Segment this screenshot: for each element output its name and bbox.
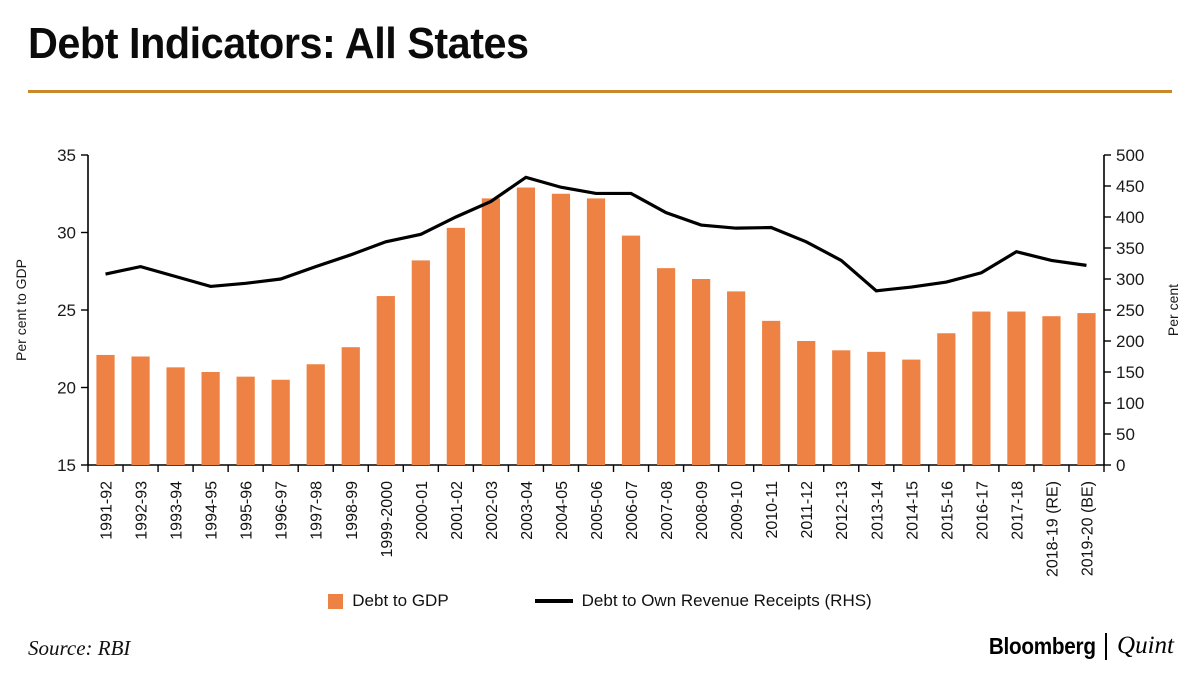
y-axis-right-tick-label: 0 bbox=[1116, 456, 1125, 475]
x-axis-label-2005-06: 2005-06 bbox=[589, 481, 606, 540]
debt-indicators-chart: 1520253035Per cent to GDP050100150200250… bbox=[0, 110, 1200, 610]
bar-1991-92[interactable] bbox=[96, 355, 114, 465]
source-note: Source: RBI bbox=[28, 636, 130, 661]
bar-1992-93[interactable] bbox=[131, 357, 149, 466]
bar-2000-01[interactable] bbox=[412, 260, 430, 465]
bar-2005-06[interactable] bbox=[587, 198, 605, 465]
x-axis-label-1996-97: 1996-97 bbox=[274, 481, 291, 540]
x-axis-label-2016-17: 2016-17 bbox=[974, 481, 991, 540]
brand-divider-icon bbox=[1105, 633, 1107, 660]
bar-1998-99[interactable] bbox=[342, 347, 360, 465]
bar-series-debt-to-gdp bbox=[96, 188, 1095, 465]
x-axis-label-1994-95: 1994-95 bbox=[204, 481, 221, 540]
bar-2013-14[interactable] bbox=[867, 352, 885, 465]
bar-1999-2000[interactable] bbox=[377, 296, 395, 465]
y-axis-left-tick-label: 35 bbox=[57, 146, 76, 165]
x-axis-label-2014-15: 2014-15 bbox=[904, 481, 921, 540]
bar-2001-02[interactable] bbox=[447, 228, 465, 465]
bar-2002-03[interactable] bbox=[482, 198, 500, 465]
brand-bloomberg-text: Bloomberg bbox=[989, 633, 1096, 660]
y-axis-right-tick-label: 150 bbox=[1116, 363, 1144, 382]
x-axis-label-1999-2000: 1999-2000 bbox=[379, 481, 396, 558]
legend-item-debt-to-own-revenue-receipts[interactable]: Debt to Own Revenue Receipts (RHS) bbox=[535, 591, 872, 611]
x-axis-label-2007-08: 2007-08 bbox=[659, 481, 676, 540]
footer: Source: RBI Bloomberg Quint bbox=[0, 628, 1200, 673]
bar-2011-12[interactable] bbox=[797, 341, 815, 465]
x-axis-label-2009-10: 2009-10 bbox=[729, 481, 746, 540]
bar-2009-10[interactable] bbox=[727, 291, 745, 465]
y-axis-right-tick-label: 250 bbox=[1116, 301, 1144, 320]
bar-2003-04[interactable] bbox=[517, 188, 535, 465]
x-axis-label-2018-19-re-: 2018-19 (RE) bbox=[1044, 481, 1061, 577]
x-axis-label-2010-11: 2010-11 bbox=[764, 481, 781, 539]
bar-1994-95[interactable] bbox=[202, 372, 220, 465]
title-divider bbox=[28, 90, 1172, 93]
bar-1995-96[interactable] bbox=[237, 377, 255, 465]
bar-2006-07[interactable] bbox=[622, 236, 640, 465]
bar-2015-16[interactable] bbox=[937, 333, 955, 465]
x-axis-label-2008-09: 2008-09 bbox=[694, 481, 711, 540]
y-axis-right-tick-label: 300 bbox=[1116, 270, 1144, 289]
x-axis-label-1992-93: 1992-93 bbox=[134, 481, 151, 540]
y-axis-left-tick-label: 25 bbox=[57, 301, 76, 320]
legend-swatch-line-icon bbox=[535, 599, 573, 603]
x-axis-label-2015-16: 2015-16 bbox=[939, 481, 956, 540]
chart-container: 1520253035Per cent to GDP050100150200250… bbox=[0, 110, 1200, 610]
x-axis-label-2002-03: 2002-03 bbox=[484, 481, 501, 540]
bar-2012-13[interactable] bbox=[832, 350, 850, 465]
x-axis-label-2017-18: 2017-18 bbox=[1009, 481, 1026, 540]
x-axis-label-2004-05: 2004-05 bbox=[554, 481, 571, 540]
x-axis-label-1998-99: 1998-99 bbox=[344, 481, 361, 540]
x-axis-label-2006-07: 2006-07 bbox=[624, 481, 641, 540]
x-axis-label-1997-98: 1997-98 bbox=[309, 481, 326, 540]
bar-2014-15[interactable] bbox=[902, 360, 920, 465]
bar-1993-94[interactable] bbox=[166, 367, 184, 465]
x-axis-label-2013-14: 2013-14 bbox=[869, 481, 886, 540]
y-axis-left-title: Per cent to GDP bbox=[13, 259, 29, 361]
y-axis-right-tick-label: 500 bbox=[1116, 146, 1144, 165]
x-axis-label-2019-20-be-: 2019-20 (BE) bbox=[1079, 481, 1096, 576]
bar-2019-20-be-[interactable] bbox=[1077, 313, 1095, 465]
legend-item-debt-to-gdp[interactable]: Debt to GDP bbox=[328, 591, 448, 611]
x-axis-label-2003-04: 2003-04 bbox=[519, 481, 536, 540]
bar-2010-11[interactable] bbox=[762, 321, 780, 465]
y-axis-right-tick-label: 50 bbox=[1116, 425, 1135, 444]
legend-label-debt-to-own-revenue-receipts: Debt to Own Revenue Receipts (RHS) bbox=[582, 591, 872, 611]
x-axis-label-2011-12: 2011-12 bbox=[799, 481, 816, 539]
legend-swatch-bar-icon bbox=[328, 594, 343, 609]
y-axis-right-title: Per cent bbox=[1165, 284, 1181, 336]
brand-logo: Bloomberg Quint bbox=[977, 632, 1174, 660]
y-axis-right-tick-label: 100 bbox=[1116, 394, 1144, 413]
y-axis-right-tick-label: 400 bbox=[1116, 208, 1144, 227]
x-axis-label-2001-02: 2001-02 bbox=[449, 481, 466, 540]
page-title: Debt Indicators: All States bbox=[28, 18, 1103, 70]
legend-label-debt-to-gdp: Debt to GDP bbox=[352, 591, 448, 611]
x-axis-label-1995-96: 1995-96 bbox=[239, 481, 256, 540]
y-axis-right-tick-label: 350 bbox=[1116, 239, 1144, 258]
brand-quint-text: Quint bbox=[1117, 632, 1174, 660]
y-axis-right-tick-label: 450 bbox=[1116, 177, 1144, 196]
y-axis-left-tick-label: 15 bbox=[57, 456, 76, 475]
bar-2017-18[interactable] bbox=[1007, 312, 1025, 465]
bar-2008-09[interactable] bbox=[692, 279, 710, 465]
x-axis-label-1993-94: 1993-94 bbox=[169, 481, 186, 540]
bar-2004-05[interactable] bbox=[552, 194, 570, 465]
y-axis-left-tick-label: 30 bbox=[57, 224, 76, 243]
x-axis-label-1991-92: 1991-92 bbox=[99, 481, 116, 540]
chart-page: Debt Indicators: All States 1520253035Pe… bbox=[0, 0, 1200, 673]
x-axis-label-2000-01: 2000-01 bbox=[414, 481, 431, 540]
header: Debt Indicators: All States bbox=[28, 18, 1172, 98]
x-axis-label-2012-13: 2012-13 bbox=[834, 481, 851, 540]
y-axis-right-tick-label: 200 bbox=[1116, 332, 1144, 351]
bar-1996-97[interactable] bbox=[272, 380, 290, 465]
y-axis-left-tick-label: 20 bbox=[57, 379, 76, 398]
bar-2007-08[interactable] bbox=[657, 268, 675, 465]
chart-legend: Debt to GDP Debt to Own Revenue Receipts… bbox=[0, 588, 1200, 614]
bar-2016-17[interactable] bbox=[972, 312, 990, 465]
bar-1997-98[interactable] bbox=[307, 364, 325, 465]
bar-2018-19-re-[interactable] bbox=[1042, 316, 1060, 465]
